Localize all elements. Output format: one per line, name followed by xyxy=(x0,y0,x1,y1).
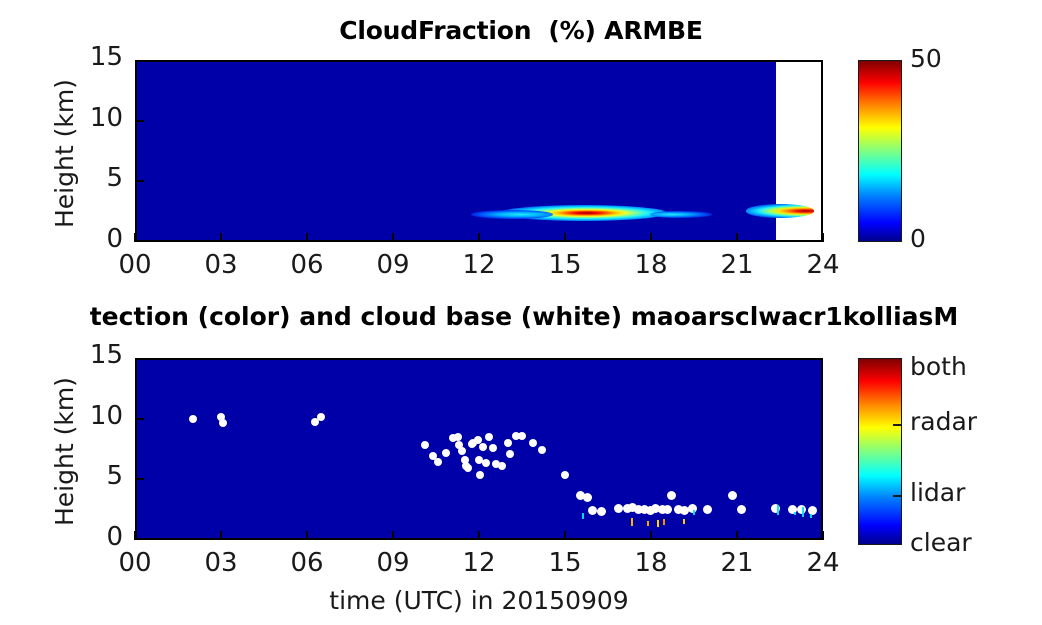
cloud-base-points-layer xyxy=(137,360,821,538)
panel-bottom-axes xyxy=(135,358,823,540)
x-tick xyxy=(306,531,308,540)
x-tick-label: 15 xyxy=(530,250,600,280)
figure-root: CloudFraction (%) ARMBE 0003060912151821… xyxy=(0,0,1042,625)
x-tick xyxy=(564,531,566,540)
cloud-base-point xyxy=(506,450,514,458)
radar-detection-pixel xyxy=(647,521,649,526)
panel-bottom-colorbar xyxy=(858,358,902,545)
colorbar-label-radar: radar xyxy=(910,407,977,436)
x-tick xyxy=(478,531,480,540)
panel-bottom-plot-area xyxy=(137,360,821,538)
x-tick-label: 24 xyxy=(788,548,858,578)
cloud-base-point xyxy=(504,439,512,447)
cloud-base-point xyxy=(482,459,490,467)
cloud-base-point xyxy=(458,447,466,455)
cloud-feature-low-deck-wing xyxy=(471,210,553,219)
x-tick xyxy=(220,233,222,242)
x-tick xyxy=(134,531,136,540)
colorbar-tick xyxy=(893,424,902,426)
lidar-detection-streak xyxy=(802,507,804,516)
panel-top-colorbar-min-label: 0 xyxy=(910,224,926,253)
radar-detection-pixel xyxy=(631,518,633,526)
x-tick xyxy=(220,531,222,540)
y-tick xyxy=(135,478,144,480)
figure-xaxis-title: time (UTC) in 20150909 xyxy=(129,586,829,615)
colorbar-tick xyxy=(893,495,902,497)
x-tick-label: 12 xyxy=(444,548,514,578)
x-tick xyxy=(392,531,394,540)
cloud-base-point xyxy=(538,446,546,454)
cloud-base-point xyxy=(529,439,537,447)
x-tick xyxy=(822,233,824,242)
cloud-base-point xyxy=(561,471,569,479)
x-tick xyxy=(478,233,480,242)
cloud-base-point xyxy=(703,505,712,514)
x-tick-label: 00 xyxy=(100,548,170,578)
x-tick-label: 03 xyxy=(186,548,256,578)
cloud-base-point xyxy=(583,493,592,502)
cloud-base-point xyxy=(317,413,325,421)
x-tick xyxy=(392,233,394,242)
x-tick-label: 18 xyxy=(616,548,686,578)
panel-top-plot-area xyxy=(137,62,821,240)
panel-top-colorbar xyxy=(858,60,902,242)
x-tick xyxy=(306,233,308,242)
cloud-base-point xyxy=(485,433,493,441)
y-tick-label: 15 xyxy=(63,42,123,72)
x-tick xyxy=(822,531,824,540)
x-tick xyxy=(134,233,136,242)
panel-bottom-yaxis-title: Height (km) xyxy=(50,377,79,526)
panel-top-title: CloudFraction (%) ARMBE xyxy=(0,16,1042,45)
radar-detection-pixel xyxy=(683,519,685,524)
x-tick xyxy=(736,531,738,540)
x-tick-label: 06 xyxy=(272,250,342,280)
radar-detection-pixel xyxy=(663,519,665,525)
y-tick xyxy=(135,180,144,182)
lidar-detection-streak xyxy=(794,512,796,516)
x-tick-label: 24 xyxy=(788,250,858,280)
lidar-detection-streak xyxy=(693,510,695,516)
y-tick xyxy=(135,120,144,122)
cloud-base-point xyxy=(189,415,197,423)
x-tick-label: 09 xyxy=(358,548,428,578)
cloud-base-point xyxy=(737,505,746,514)
y-tick-label: 0 xyxy=(63,522,123,552)
x-tick-label: 03 xyxy=(186,250,256,280)
colorbar-label-both: both xyxy=(910,352,967,381)
cloud-base-point xyxy=(434,458,442,466)
x-tick xyxy=(650,531,652,540)
cloud-feature-late xyxy=(746,204,814,217)
colorbar-label-lidar: lidar xyxy=(910,478,965,507)
x-tick xyxy=(736,233,738,242)
panel-top-yaxis-title: Height (km) xyxy=(50,79,79,228)
cloud-base-point xyxy=(219,419,227,427)
cloud-base-point xyxy=(597,507,606,516)
colorbar-label-clear: clear xyxy=(910,528,972,557)
x-tick-label: 15 xyxy=(530,548,600,578)
radar-detection-pixel xyxy=(657,520,659,527)
cloud-base-point xyxy=(476,471,484,479)
cloud-base-point xyxy=(474,436,482,444)
x-tick-label: 18 xyxy=(616,250,686,280)
lidar-detection-streak xyxy=(582,513,584,519)
cloud-base-point xyxy=(663,505,672,514)
cloud-base-point xyxy=(498,462,506,470)
y-tick xyxy=(135,418,144,420)
x-tick-label: 06 xyxy=(272,548,342,578)
cloud-base-point xyxy=(667,491,676,500)
cloud-base-point xyxy=(728,491,737,500)
panel-bottom-title: tection (color) and cloud base (white) m… xyxy=(0,302,1042,331)
x-tick-label: 00 xyxy=(100,250,170,280)
lidar-detection-streak xyxy=(810,514,812,518)
x-tick xyxy=(650,233,652,242)
cloud-base-point xyxy=(479,443,487,451)
panel-top-axes xyxy=(135,60,823,242)
lidar-detection-streak xyxy=(777,505,779,516)
x-tick-label: 12 xyxy=(444,250,514,280)
cloud-base-point xyxy=(518,432,526,440)
cloud-base-point xyxy=(614,504,623,513)
cloud-feature-low-deck-tail xyxy=(650,211,712,218)
panel-top-colorbar-max-label: 50 xyxy=(910,44,942,73)
x-tick-label: 21 xyxy=(702,548,772,578)
cloud-base-point xyxy=(421,441,429,449)
x-tick-label: 09 xyxy=(358,250,428,280)
cloud-base-point xyxy=(489,444,497,452)
cloud-base-point xyxy=(454,433,462,441)
x-tick-label: 21 xyxy=(702,250,772,280)
cloud-base-point xyxy=(464,464,472,472)
x-tick xyxy=(564,233,566,242)
cloud-base-point xyxy=(442,449,450,457)
y-tick-label: 15 xyxy=(63,340,123,370)
y-tick-label: 0 xyxy=(63,224,123,254)
